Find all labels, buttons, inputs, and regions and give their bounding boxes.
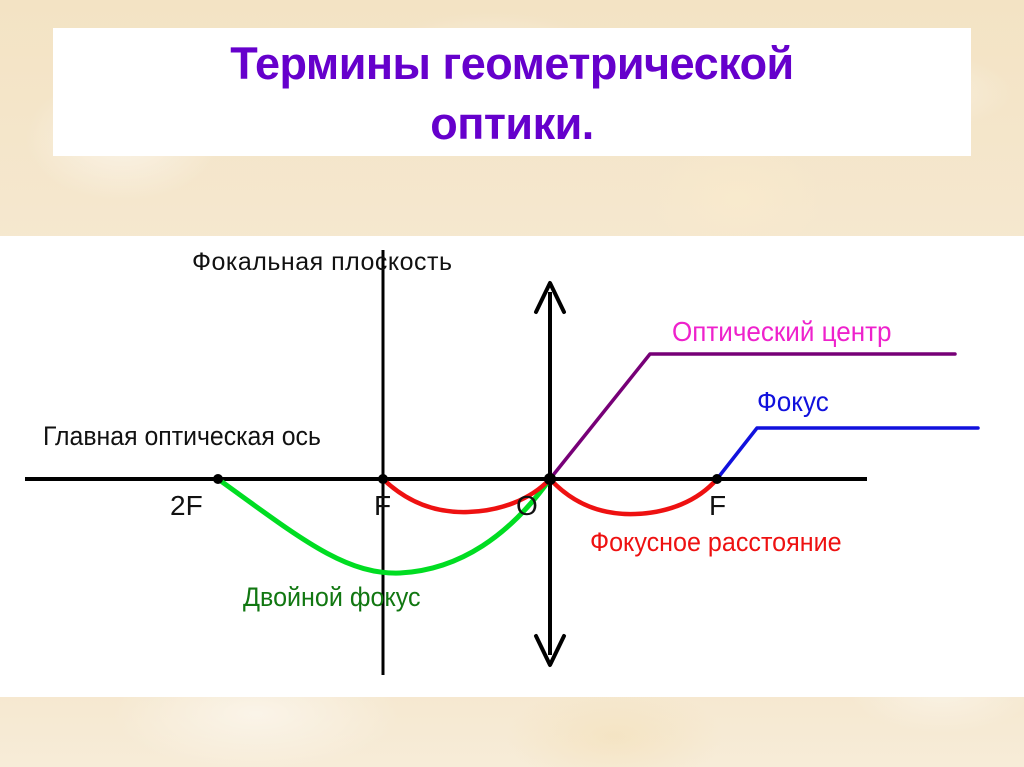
label-point-o: O (516, 492, 538, 520)
label-double-focus: Двойной фокус (243, 584, 421, 611)
label-point-2f: 2F (170, 492, 203, 520)
point-marker-o (544, 473, 556, 485)
label-optical-center: Оптический центр (672, 318, 892, 346)
label-point-f-right: F (709, 492, 726, 520)
label-focal-length: Фокусное расстояние (590, 529, 842, 556)
optical-center-leader-line (550, 354, 955, 479)
focal-length-curve-right (550, 479, 717, 514)
point-marker-2f (213, 474, 223, 484)
label-main-optical-axis: Главная оптическая ось (43, 423, 321, 450)
label-focus: Фокус (757, 388, 829, 416)
focus-leader-line (717, 428, 978, 479)
page-title: Термины геометрической оптики. (53, 34, 971, 154)
optics-diagram-graphic (0, 236, 1024, 697)
label-point-f-left: F (374, 492, 391, 520)
diagram-panel (0, 236, 1024, 697)
point-marker-f-left (378, 474, 388, 484)
label-focal-plane: Фокальная плоскость (192, 250, 453, 275)
slide-canvas: Термины геометрической оптики. (0, 0, 1024, 767)
title-band: Термины геометрической оптики. (53, 28, 971, 156)
point-marker-f-right (712, 474, 722, 484)
